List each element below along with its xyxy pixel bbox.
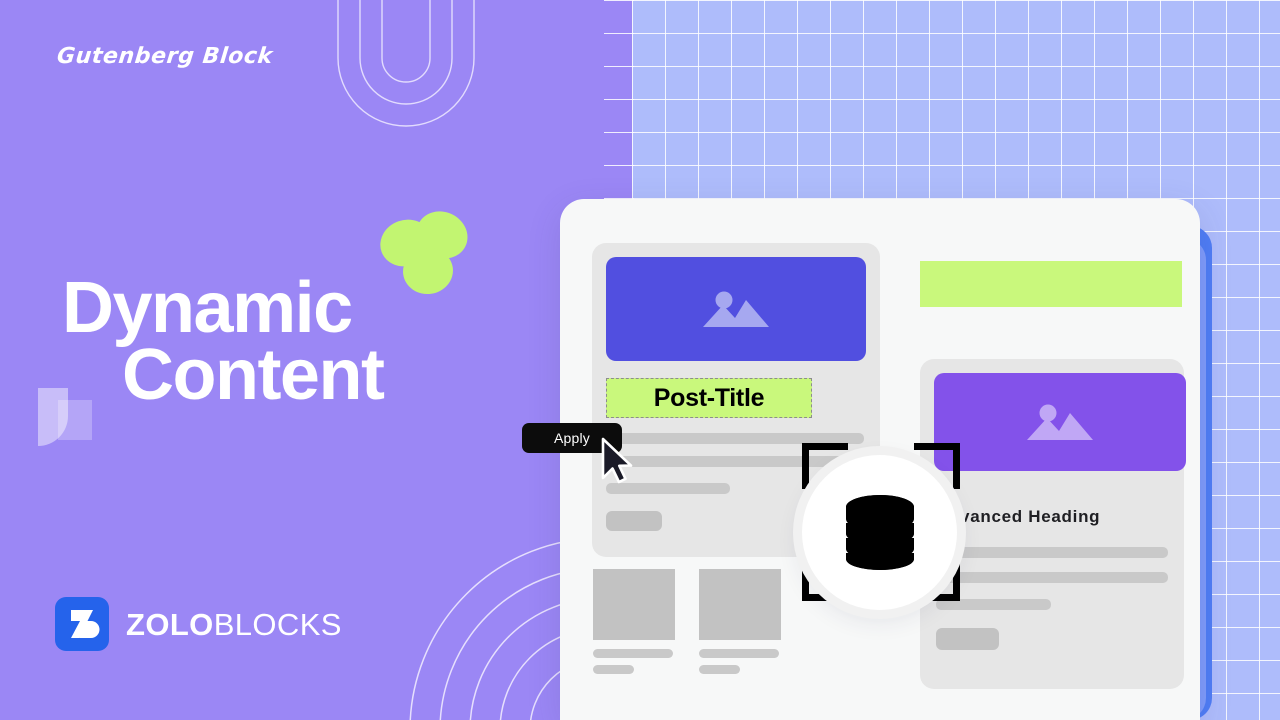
post-card-right[interactable]: Advanced Heading [920,359,1184,689]
zoloblocks-logo-icon [55,597,109,651]
image-placeholder-icon [606,257,866,361]
button-placeholder[interactable] [936,628,999,650]
skeleton-line [936,547,1168,558]
image-placeholder-icon [934,373,1186,471]
skeleton-line [593,649,673,658]
highlight-bar[interactable] [920,261,1182,307]
skeleton-line [699,649,779,658]
thumbnail-tile[interactable] [593,569,675,640]
button-placeholder[interactable] [606,511,662,531]
blueprint-grid-tab [604,0,634,200]
advanced-heading-block[interactable]: Advanced Heading [936,507,1176,527]
logo-wordmark: ZOLOBLOCKS [126,609,342,640]
skeleton-line [593,665,634,674]
concentric-u-outline-icon [316,0,496,136]
slide-canvas: Gutenberg Block Dynamic Content ZOLOBLOC… [0,0,1280,720]
title-line-2: Content [62,342,582,409]
logo-word-bold: ZOLO [126,607,214,642]
logo-word-light: BLOCKS [214,607,342,642]
page-title: Dynamic Content [62,275,582,409]
skeleton-line [699,665,740,674]
mouse-pointer-icon [600,437,636,485]
thumbnail-tile[interactable] [699,569,781,640]
post-title-block[interactable]: Post-Title [606,378,812,418]
skeleton-line [936,572,1168,583]
kicker-label: Gutenberg Block [56,44,274,69]
database-icon [842,494,918,572]
dynamic-source-badge[interactable] [802,455,957,610]
zoloblocks-logo[interactable]: ZOLOBLOCKS [55,597,342,651]
